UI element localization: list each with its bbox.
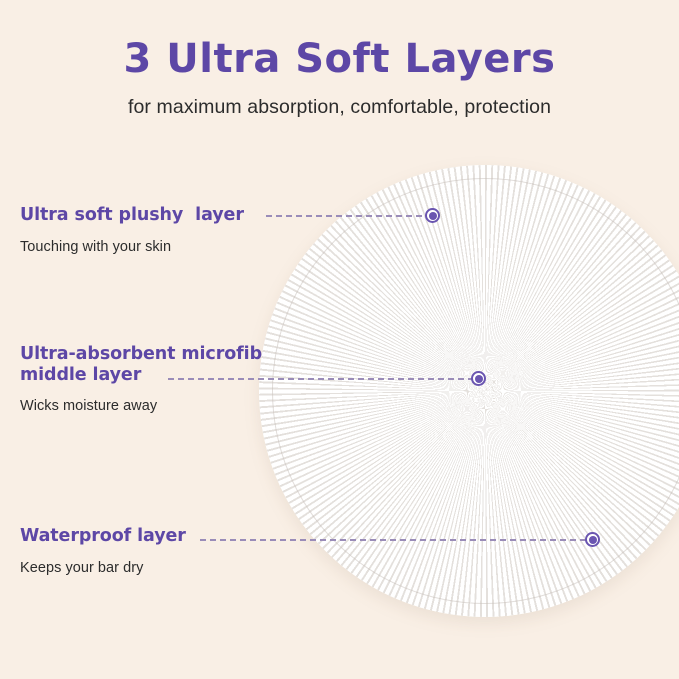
callout-subtitle-middle-layer: Wicks moisture away — [20, 385, 282, 414]
infographic-canvas: 3 Ultra Soft Layers for maximum absorpti… — [0, 0, 679, 679]
leader-line-plushy-layer — [266, 215, 432, 217]
leader-marker-waterproof-layer — [585, 532, 600, 547]
callout-subtitle-waterproof-layer: Keeps your bar dry — [20, 547, 186, 576]
header: 3 Ultra Soft Layers for maximum absorpti… — [0, 0, 679, 119]
marker-dot-icon — [475, 375, 483, 383]
nursing-pad — [259, 165, 679, 617]
marker-dot-icon — [589, 536, 597, 544]
product-image — [259, 165, 679, 617]
callout-title-middle-layer-line1: Ultra-absorbent microfiber — [20, 344, 282, 365]
leader-line-waterproof-layer — [200, 539, 592, 541]
callout-title-plushy-layer: Ultra soft plushy layer — [20, 205, 244, 226]
callout-subtitle-plushy-layer: Touching with your skin — [20, 226, 244, 255]
leader-marker-plushy-layer — [425, 208, 440, 223]
callout-title-middle-layer-line2: middle layer — [20, 365, 282, 386]
page-subtitle: for maximum absorption, comfortable, pro… — [0, 80, 679, 119]
marker-dot-icon — [429, 212, 437, 220]
callout-title-waterproof-layer: Waterproof layer — [20, 526, 186, 547]
page-title: 3 Ultra Soft Layers — [0, 0, 679, 80]
callout-waterproof-layer: Waterproof layer Keeps your bar dry — [20, 526, 186, 576]
leader-marker-middle-layer — [471, 371, 486, 386]
callout-plushy-layer: Ultra soft plushy layer Touching with yo… — [20, 205, 244, 255]
leader-line-middle-layer — [168, 378, 478, 380]
